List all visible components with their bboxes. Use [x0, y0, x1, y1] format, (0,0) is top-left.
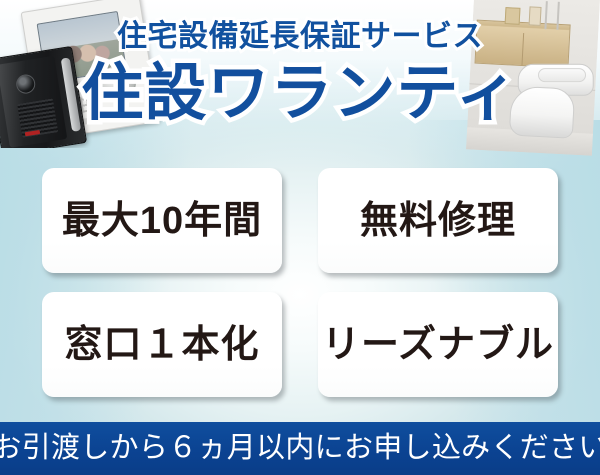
feature-label: 無料修理 [360, 199, 516, 243]
feature-box-grid: 最大10年間 無料修理 窓口１本化 リーズナブル [42, 168, 558, 397]
feature-label: 最大10年間 [62, 199, 262, 243]
page-title: 住設ワランティ [0, 58, 600, 130]
feature-label: リーズナブル [322, 323, 554, 367]
service-subtitle: 住宅設備延長保証サービス [0, 20, 600, 54]
application-deadline-text: お引渡しから６ヵ月以内にお申し込みください [0, 432, 600, 465]
feature-box-max-years[interactable]: 最大10年間 [42, 168, 282, 273]
feature-label: 窓口１本化 [64, 323, 259, 367]
promotional-banner: 住宅設備延長保証サービス 住設ワランティ 最大10年間 無料修理 窓口１本化 リ… [0, 0, 600, 475]
application-deadline-banner: お引渡しから６ヵ月以内にお申し込みください [0, 422, 600, 475]
feature-box-reasonable[interactable]: リーズナブル [318, 292, 558, 397]
feature-box-free-repair[interactable]: 無料修理 [318, 168, 558, 273]
feature-box-single-contact[interactable]: 窓口１本化 [42, 292, 282, 397]
